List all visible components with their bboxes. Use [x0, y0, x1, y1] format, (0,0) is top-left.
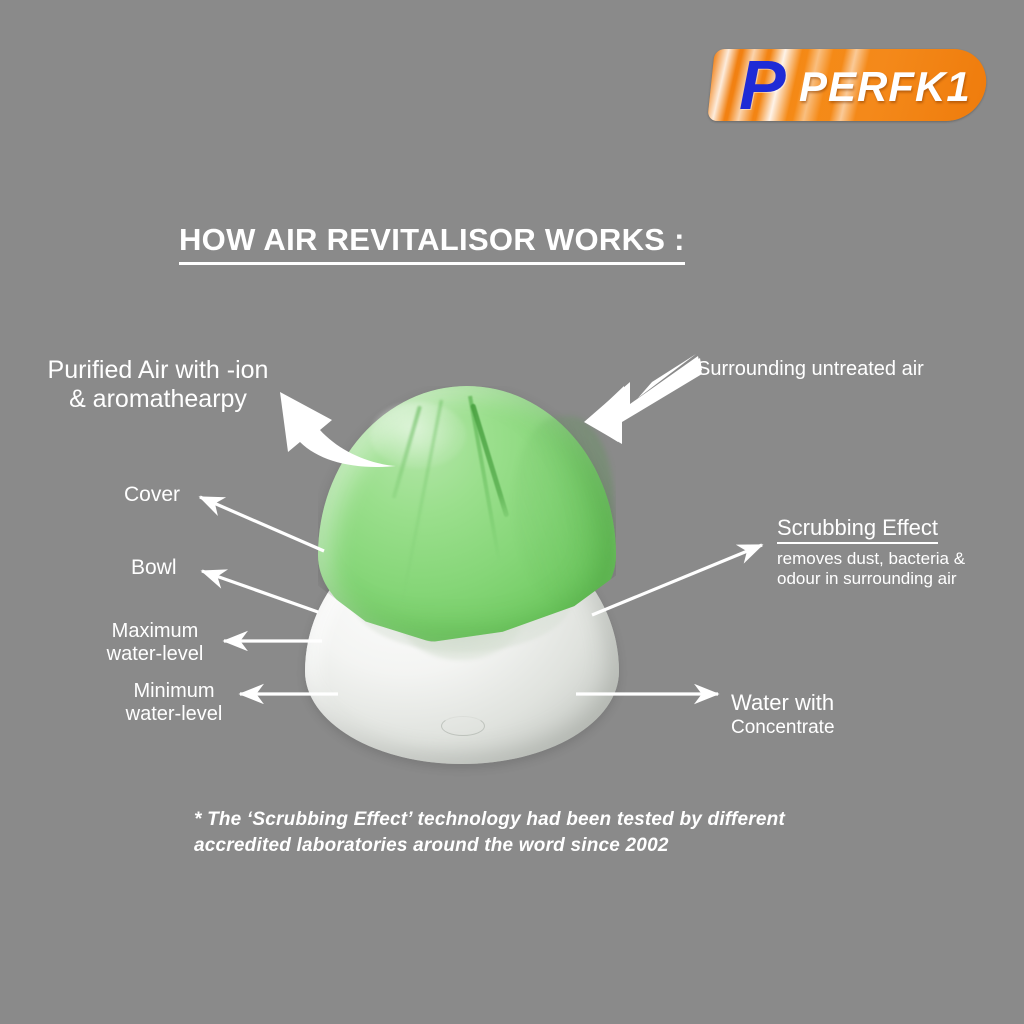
label-water-concentrate: Water with Concentrate: [731, 690, 835, 739]
label-water-concentrate-line2: Concentrate: [731, 717, 835, 739]
label-cover: Cover: [124, 483, 180, 507]
label-scrubbing-effect-desc-line2: odour in surrounding air: [777, 569, 1007, 589]
label-scrubbing-effect-title: Scrubbing Effect: [777, 515, 938, 544]
bowl-foot-detail: [441, 716, 485, 736]
label-maximum-water-level: Maximum water-level: [95, 620, 215, 666]
page-title: HOW AIR REVITALISOR WORKS :: [179, 222, 685, 265]
logo-p-mark: P: [739, 50, 783, 120]
label-minimum-water-level-line2: water-level: [115, 703, 233, 726]
label-bowl: Bowl: [131, 556, 177, 580]
label-purified-air-line2: & aromathearpy: [34, 385, 282, 414]
label-minimum-water-level: Minimum water-level: [115, 680, 233, 726]
label-purified-air-line1: Purified Air with -ion: [34, 356, 282, 385]
footnote-line1: * The ‘Scrubbing Effect’ technology had …: [194, 807, 834, 833]
outgoing-air-arrow-icon: [272, 368, 402, 470]
footnote-line2: accredited laboratories around the word …: [194, 833, 834, 859]
label-maximum-water-level-line1: Maximum: [95, 620, 215, 643]
label-water-concentrate-line1: Water with: [731, 690, 835, 716]
label-purified-air: Purified Air with -ion & aromathearpy: [34, 356, 282, 414]
infographic-canvas: P PERFK1 HOW AIR REVITALISOR WORKS :: [0, 0, 1024, 1024]
label-scrubbing-effect-desc-line1: removes dust, bacteria &: [777, 549, 1007, 569]
label-maximum-water-level-line2: water-level: [95, 643, 215, 666]
label-surrounding-air: Surrounding untreated air: [697, 358, 924, 381]
label-scrubbing-effect-desc: removes dust, bacteria & odour in surrou…: [777, 549, 1007, 589]
perfk1-logo: P PERFK1: [707, 49, 990, 121]
label-minimum-water-level-line1: Minimum: [115, 680, 233, 703]
footnote: * The ‘Scrubbing Effect’ technology had …: [194, 807, 834, 858]
label-scrubbing-effect: Scrubbing Effect removes dust, bacteria …: [777, 515, 1007, 589]
logo-wordmark: PERFK1: [799, 66, 971, 108]
incoming-air-arrow-icon: [578, 352, 702, 446]
logo-inner: P PERFK1: [711, 49, 986, 121]
